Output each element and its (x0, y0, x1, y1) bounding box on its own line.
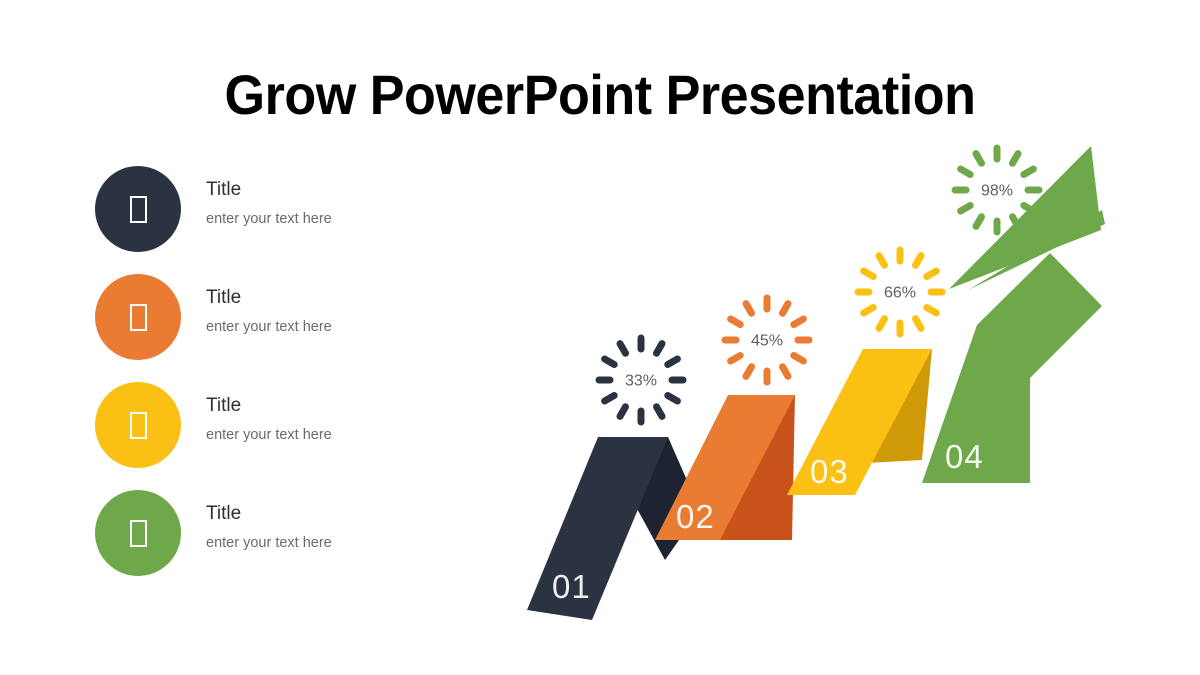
legend-title: Title (206, 178, 471, 202)
chart-step-04[interactable]: 04 (922, 146, 1105, 483)
legend-bullet-2[interactable] (95, 274, 181, 360)
legend-subtitle: enter your text here (206, 426, 471, 445)
placeholder-box-icon (130, 412, 147, 439)
legend-subtitle: enter your text here (206, 210, 471, 229)
legend-text-1: Title enter your text here (206, 178, 471, 229)
percent-badge-03[interactable]: 66% (858, 250, 942, 334)
legend-text-2: Title enter your text here (206, 286, 471, 337)
page-title: Grow PowerPoint Presentation (42, 62, 1158, 128)
placeholder-box-icon (130, 196, 147, 223)
list-item[interactable]: Title enter your text here (95, 274, 475, 382)
legend-title: Title (206, 394, 471, 418)
percent-label-03: 66% (884, 285, 916, 302)
chart-step-03[interactable]: 03 (787, 349, 932, 495)
legend-text-4: Title enter your text here (206, 502, 471, 553)
legend-text-3: Title enter your text here (206, 394, 471, 445)
step-03-number: 03 (810, 453, 849, 490)
percent-badge-01[interactable]: 33% (599, 338, 683, 422)
legend-bullet-3[interactable] (95, 382, 181, 468)
legend-subtitle: enter your text here (206, 534, 471, 553)
legend-title: Title (206, 502, 471, 526)
growth-arrow-chart: 01 02 03 04 (490, 120, 1150, 640)
percent-label-01: 33% (625, 373, 657, 390)
step-01-face (527, 437, 668, 620)
percent-badge-02[interactable]: 45% (725, 298, 809, 382)
legend-bullet-1[interactable] (95, 166, 181, 252)
legend-list: Title enter your text here Title enter y… (95, 166, 475, 598)
step-04-number: 04 (945, 438, 984, 475)
percent-label-02: 45% (751, 333, 783, 350)
legend-title: Title (206, 286, 471, 310)
arrow-head-triangle (949, 146, 1101, 289)
placeholder-box-icon (130, 304, 147, 331)
legend-subtitle: enter your text here (206, 318, 471, 337)
list-item[interactable]: Title enter your text here (95, 382, 475, 490)
placeholder-box-icon (130, 520, 147, 547)
step-01-number: 01 (552, 568, 591, 605)
step-02-number: 02 (676, 498, 715, 535)
list-item[interactable]: Title enter your text here (95, 166, 475, 274)
percent-label-04: 98% (981, 183, 1013, 200)
list-item[interactable]: Title enter your text here (95, 490, 475, 598)
legend-bullet-4[interactable] (95, 490, 181, 576)
